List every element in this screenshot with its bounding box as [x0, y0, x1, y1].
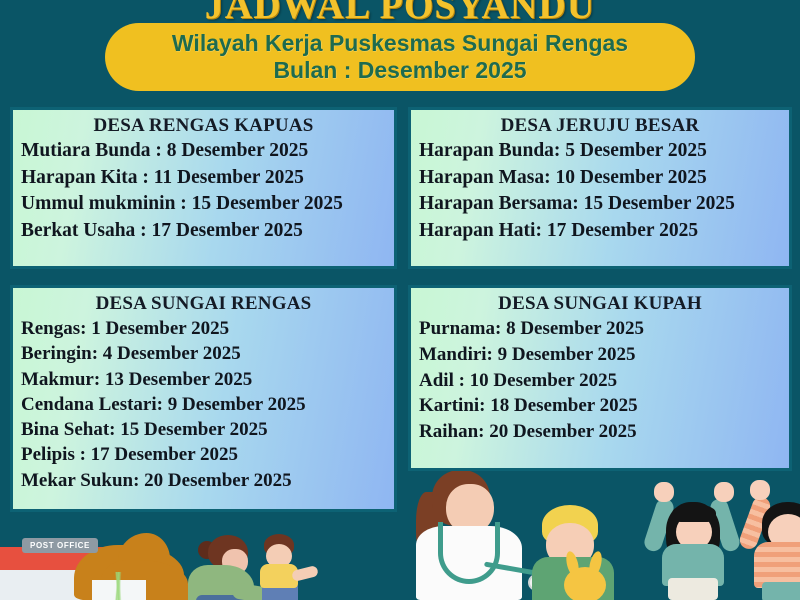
hand-icon [714, 482, 734, 502]
schedule-entry: Mutiara Bunda : 8 Desember 2025 [21, 138, 386, 165]
schedule-entry: Harapan Bunda: 5 Desember 2025 [419, 138, 781, 165]
card-title: DESA JERUJU BESAR [419, 115, 781, 137]
banner-line-month: Bulan : Desember 2025 [273, 57, 526, 84]
dancing-girl-figure-icon [648, 478, 744, 600]
card-title: DESA RENGAS KAPUAS [21, 115, 386, 137]
banner-line-region: Wilayah Kerja Puskesmas Sungai Rengas [172, 30, 628, 57]
rabbit-head-icon [564, 567, 606, 600]
card-title: DESA SUNGAI RENGAS [21, 293, 386, 315]
poster-canvas: JADWAL POSYANDU Wilayah Kerja Puskesmas … [0, 0, 800, 600]
post-office-sign-label: POST OFFICE [30, 541, 90, 550]
hand-icon [654, 482, 674, 502]
pants-icon [668, 578, 718, 600]
schedule-entry: Mandiri: 9 Desember 2025 [419, 342, 781, 368]
schedule-entry: Berkat Usaha : 17 Desember 2025 [21, 218, 386, 245]
schedule-entry: Purnama: 8 Desember 2025 [419, 316, 781, 342]
schedule-card-rengas-kapuas: DESA RENGAS KAPUAS Mutiara Bunda : 8 Des… [10, 107, 397, 269]
hand-icon [750, 480, 770, 500]
schedule-entry: Adil : 10 Desember 2025 [419, 368, 781, 394]
schedule-entry: Harapan Bersama: 15 Desember 2025 [419, 191, 781, 218]
subtitle-banner: Wilayah Kerja Puskesmas Sungai Rengas Bu… [105, 23, 695, 91]
schedule-entry: Pelipis : 17 Desember 2025 [21, 442, 386, 467]
pants-icon [762, 582, 800, 600]
page-title: JADWAL POSYANDU [0, 0, 800, 28]
schedule-card-sungai-rengas: DESA SUNGAI RENGAS Rengas: 1 Desember 20… [10, 285, 397, 512]
schedule-entry: Cendana Lestari: 9 Desember 2025 [21, 392, 386, 417]
dancing-boy-figure-icon [748, 478, 800, 600]
schedule-entry: Beringin: 4 Desember 2025 [21, 341, 386, 366]
toddler-figure-icon [254, 534, 318, 600]
schedule-card-jeruju-besar: DESA JERUJU BESAR Harapan Bunda: 5 Desem… [408, 107, 792, 269]
schedule-entry: Bina Sehat: 15 Desember 2025 [21, 417, 386, 442]
bangs-icon [672, 504, 716, 522]
grass-icon [84, 572, 154, 600]
schedule-entry: Raihan: 20 Desember 2025 [419, 419, 781, 445]
post-office-sign: POST OFFICE [22, 538, 98, 553]
schedule-entry: Makmur: 13 Desember 2025 [21, 367, 386, 392]
stethoscope-icon [438, 522, 500, 584]
schedule-entry: Mekar Sukun: 20 Desember 2025 [21, 468, 386, 493]
card-title: DESA SUNGAI KUPAH [419, 293, 781, 315]
schedule-entry: Rengas: 1 Desember 2025 [21, 316, 386, 341]
schedule-entry: Harapan Masa: 10 Desember 2025 [419, 165, 781, 192]
schedule-entry: Harapan Kita : 11 Desember 2025 [21, 165, 386, 192]
schedule-entry: Harapan Hati: 17 Desember 2025 [419, 218, 781, 245]
schedule-card-sungai-kupah: DESA SUNGAI KUPAH Purnama: 8 Desember 20… [408, 285, 792, 471]
rabbit-toy-icon [561, 551, 609, 600]
schedule-entry: Ummul mukminin : 15 Desember 2025 [21, 191, 386, 218]
schedule-entry: Kartini: 18 Desember 2025 [419, 393, 781, 419]
